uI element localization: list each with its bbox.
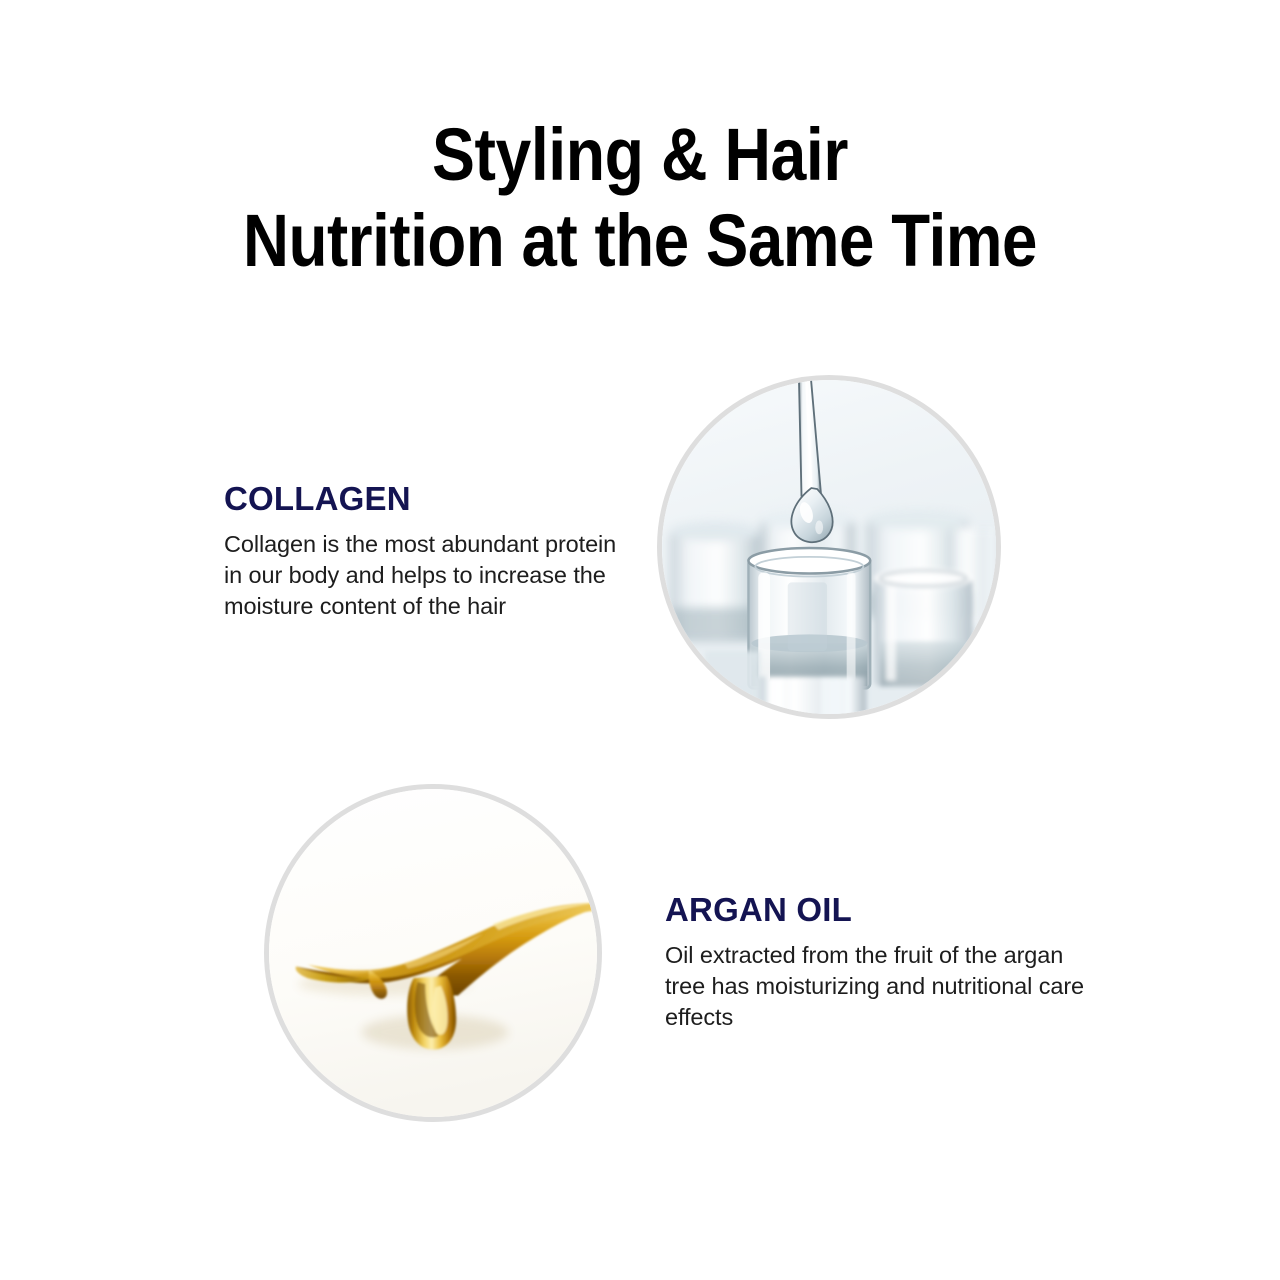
feature-collagen: COLLAGEN Collagen is the most abundant p… [224,482,639,622]
headline-line-1: Styling & Hair [83,118,1197,192]
feature-collagen-body: Collagen is the most abundant protein in… [224,529,639,622]
argan-photo-circle [264,784,602,1122]
dropper-over-glass-vials-illustration [662,380,996,714]
feature-argan: ARGAN OIL Oil extracted from the fruit o… [665,893,1090,1033]
feature-argan-body: Oil extracted from the fruit of the arga… [665,940,1090,1033]
feature-argan-title: ARGAN OIL [665,893,1090,928]
page-title: Styling & Hair Nutrition at the Same Tim… [0,118,1280,278]
headline-line-2: Nutrition at the Same Time [90,204,1191,278]
collagen-photo-circle [657,375,1001,719]
golden-argan-oil-drip-illustration [269,789,597,1117]
feature-collagen-title: COLLAGEN [224,482,639,517]
product-feature-page: Styling & Hair Nutrition at the Same Tim… [0,0,1280,1280]
